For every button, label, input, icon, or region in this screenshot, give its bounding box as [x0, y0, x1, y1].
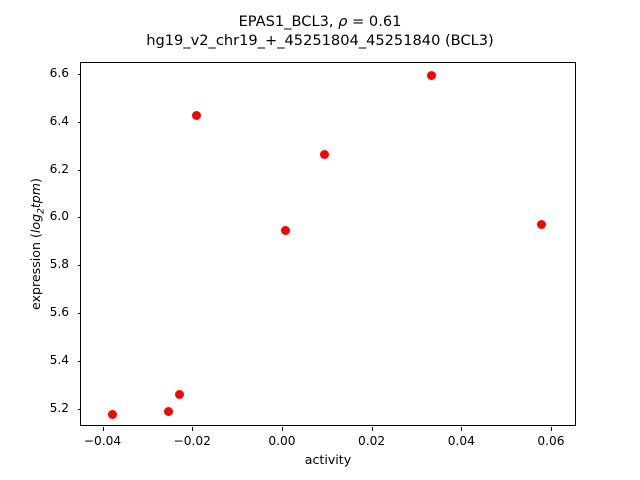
- x-axis-tick-label: −0.02: [157, 434, 227, 448]
- y-axis-label-math-base: log: [28, 214, 43, 233]
- y-axis-tick: [78, 361, 82, 362]
- x-axis-tick: [551, 427, 552, 431]
- y-axis-tick: [78, 313, 82, 314]
- scatter-point: [427, 71, 436, 80]
- scatter-point: [164, 407, 173, 416]
- y-axis-tick: [78, 217, 82, 218]
- y-axis-label-prefix: expression (: [28, 233, 43, 310]
- y-axis-label: expression (log2tpm): [26, 62, 46, 426]
- scatter-point: [281, 226, 290, 235]
- y-axis-tick: [78, 74, 82, 75]
- plot-axes-frame: −0.04−0.020.000.020.040.065.25.45.65.86.…: [80, 62, 576, 426]
- y-axis-tick: [78, 170, 82, 171]
- x-axis-tick-label: 0.02: [337, 434, 407, 448]
- x-axis-tick: [282, 427, 283, 431]
- chart-title: EPAS1_BCL3, ρ = 0.61 hg19_v2_chr19_+_452…: [0, 12, 640, 50]
- scatter-point: [175, 390, 184, 399]
- x-axis-tick: [192, 427, 193, 431]
- y-axis-label-math: log2tpm: [28, 183, 43, 233]
- x-axis-tick: [103, 427, 104, 431]
- y-axis-tick: [78, 122, 82, 123]
- scatter-point: [108, 410, 117, 419]
- x-axis-tick: [372, 427, 373, 431]
- y-axis-tick: [78, 409, 82, 410]
- y-axis-label-math-sub: 2: [37, 208, 47, 214]
- chart-title-line-1: EPAS1_BCL3, ρ = 0.61: [0, 12, 640, 31]
- x-axis-label: activity: [80, 452, 576, 467]
- y-axis-label-suffix: ): [28, 178, 43, 183]
- y-axis-tick: [78, 265, 82, 266]
- chart-subtitle: hg19_v2_chr19_+_45251804_45251840 (BCL3): [0, 31, 640, 50]
- plot-area: [81, 63, 575, 425]
- scatter-point: [537, 220, 546, 229]
- x-axis-tick-label: 0.00: [247, 434, 317, 448]
- x-axis-tick-label: 0.06: [516, 434, 586, 448]
- y-axis-label-math-tail: tpm: [28, 183, 43, 208]
- chart-title-correlation: = 0.61: [347, 13, 401, 30]
- scatter-point: [320, 150, 329, 159]
- x-axis-tick: [461, 427, 462, 431]
- x-axis-tick-label: 0.04: [426, 434, 496, 448]
- chart-title-prefix: EPAS1_BCL3,: [239, 13, 339, 30]
- x-axis-tick-label: −0.04: [68, 434, 138, 448]
- scatter-plot-figure: EPAS1_BCL3, ρ = 0.61 hg19_v2_chr19_+_452…: [0, 0, 640, 480]
- scatter-point: [192, 111, 201, 120]
